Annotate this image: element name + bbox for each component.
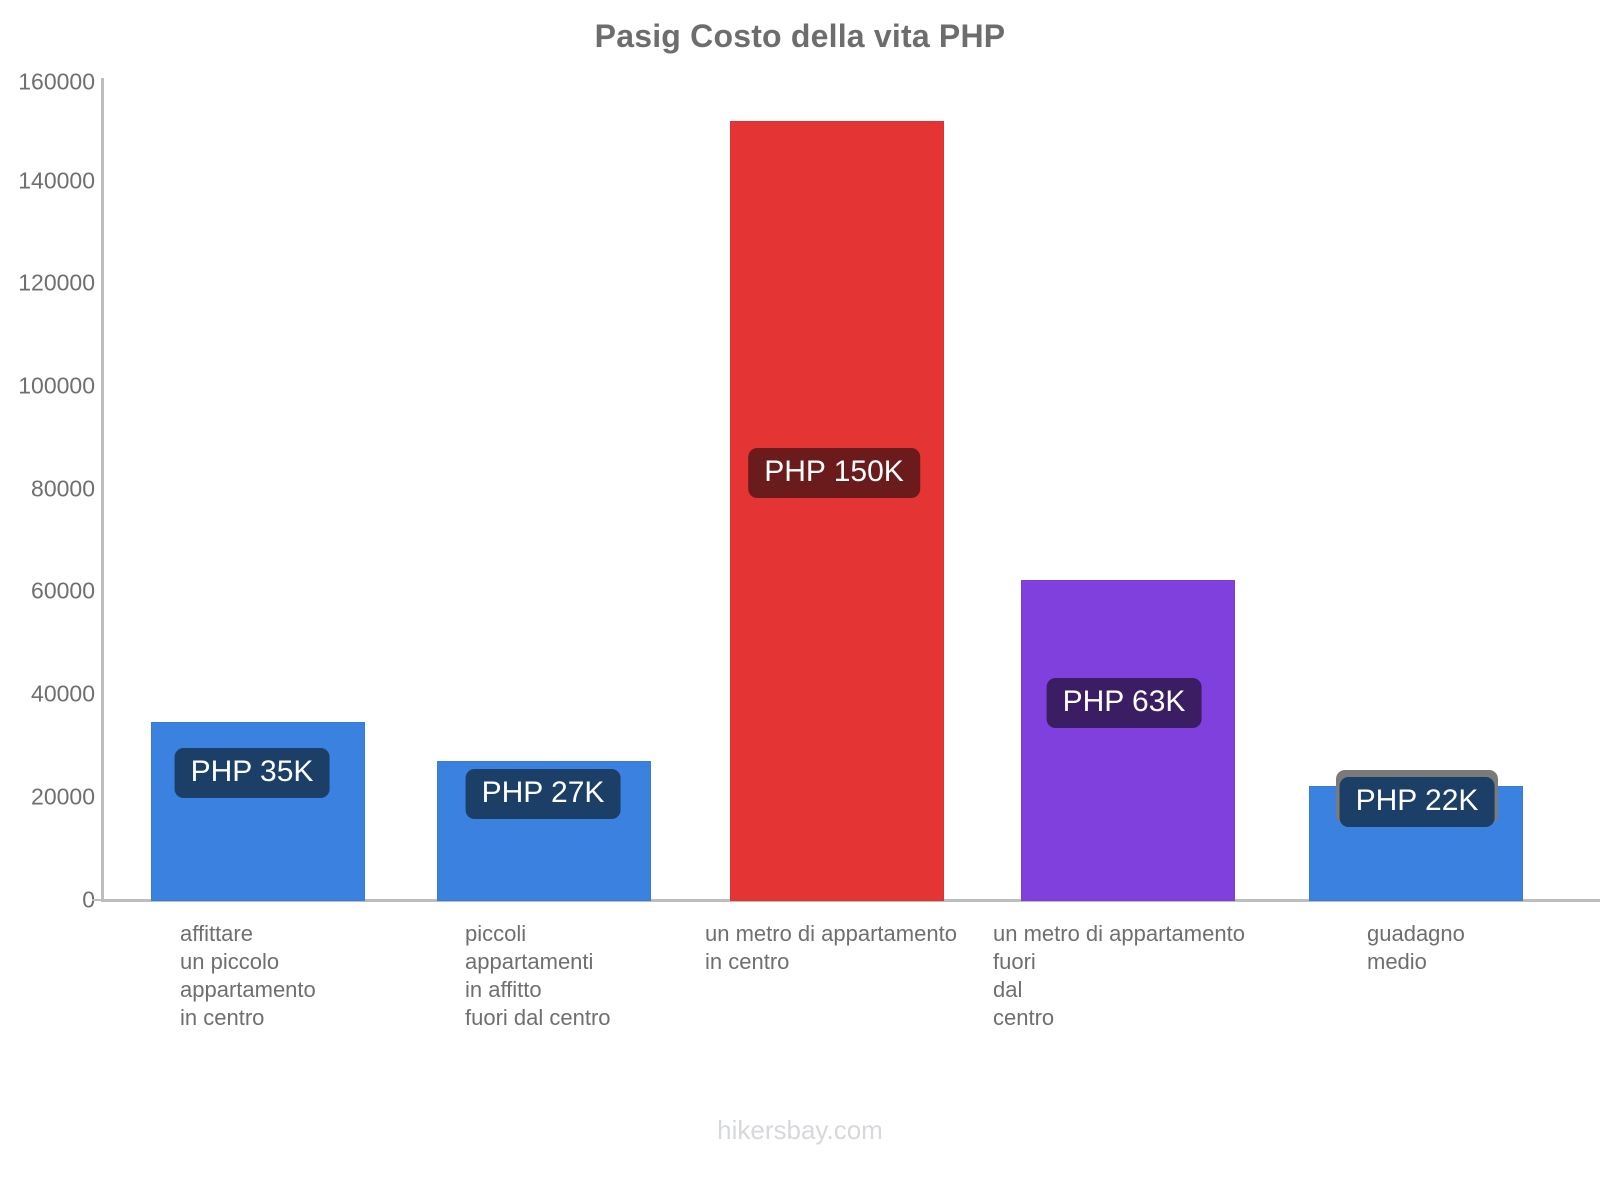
footer-watermark: hikersbay.com <box>0 1115 1600 1146</box>
x-axis-category-label-4: guadagno medio <box>1367 920 1465 976</box>
value-badge-un-metro-di-appartamento-in-centro: PHP 150K <box>748 448 920 498</box>
y-axis-tick-label-40000: 40000 <box>0 681 95 708</box>
y-axis-tick-label-80000: 80000 <box>0 476 95 503</box>
y-axis-tick-label-20000: 20000 <box>0 784 95 811</box>
y-axis-tick-label-100000: 100000 <box>0 373 95 400</box>
y-axis-line <box>101 78 104 902</box>
y-axis-tick-label-120000: 120000 <box>0 270 95 297</box>
value-badge-affittare-un-piccolo-appartamento-in-centro: PHP 35K <box>175 748 330 798</box>
bar-un-metro-di-appartamento-in-centro[interactable] <box>730 121 944 901</box>
y-axis-tick-mark-0 <box>92 899 102 901</box>
y-axis-tick-label-160000: 160000 <box>0 69 95 96</box>
x-axis-category-label-1: piccoli appartamenti in affitto fuori da… <box>465 920 611 1033</box>
bar-chart-plot: 0 20000 40000 60000 80000 100000 120000 … <box>0 0 1600 1200</box>
y-axis-tick-label-0: 0 <box>0 887 95 914</box>
value-badge-guadagno-medio: PHP 22K <box>1340 777 1495 827</box>
y-axis-tick-label-140000: 140000 <box>0 168 95 195</box>
x-axis-category-label-3: un metro di appartamento fuori dal centr… <box>993 920 1245 1033</box>
x-axis-category-label-2: un metro di appartamento in centro <box>705 920 957 976</box>
x-axis-category-label-0: affittare un piccolo appartamento in cen… <box>180 920 316 1033</box>
value-badge-un-metro-di-appartamento-fuori-dal-centro: PHP 63K <box>1047 678 1202 728</box>
value-badge-piccoli-appartamenti-in-affitto-fuori-dal-centro: PHP 27K <box>466 769 621 819</box>
bar-un-metro-di-appartamento-fuori-dal-centro[interactable] <box>1021 580 1235 901</box>
y-axis-tick-label-60000: 60000 <box>0 578 95 605</box>
